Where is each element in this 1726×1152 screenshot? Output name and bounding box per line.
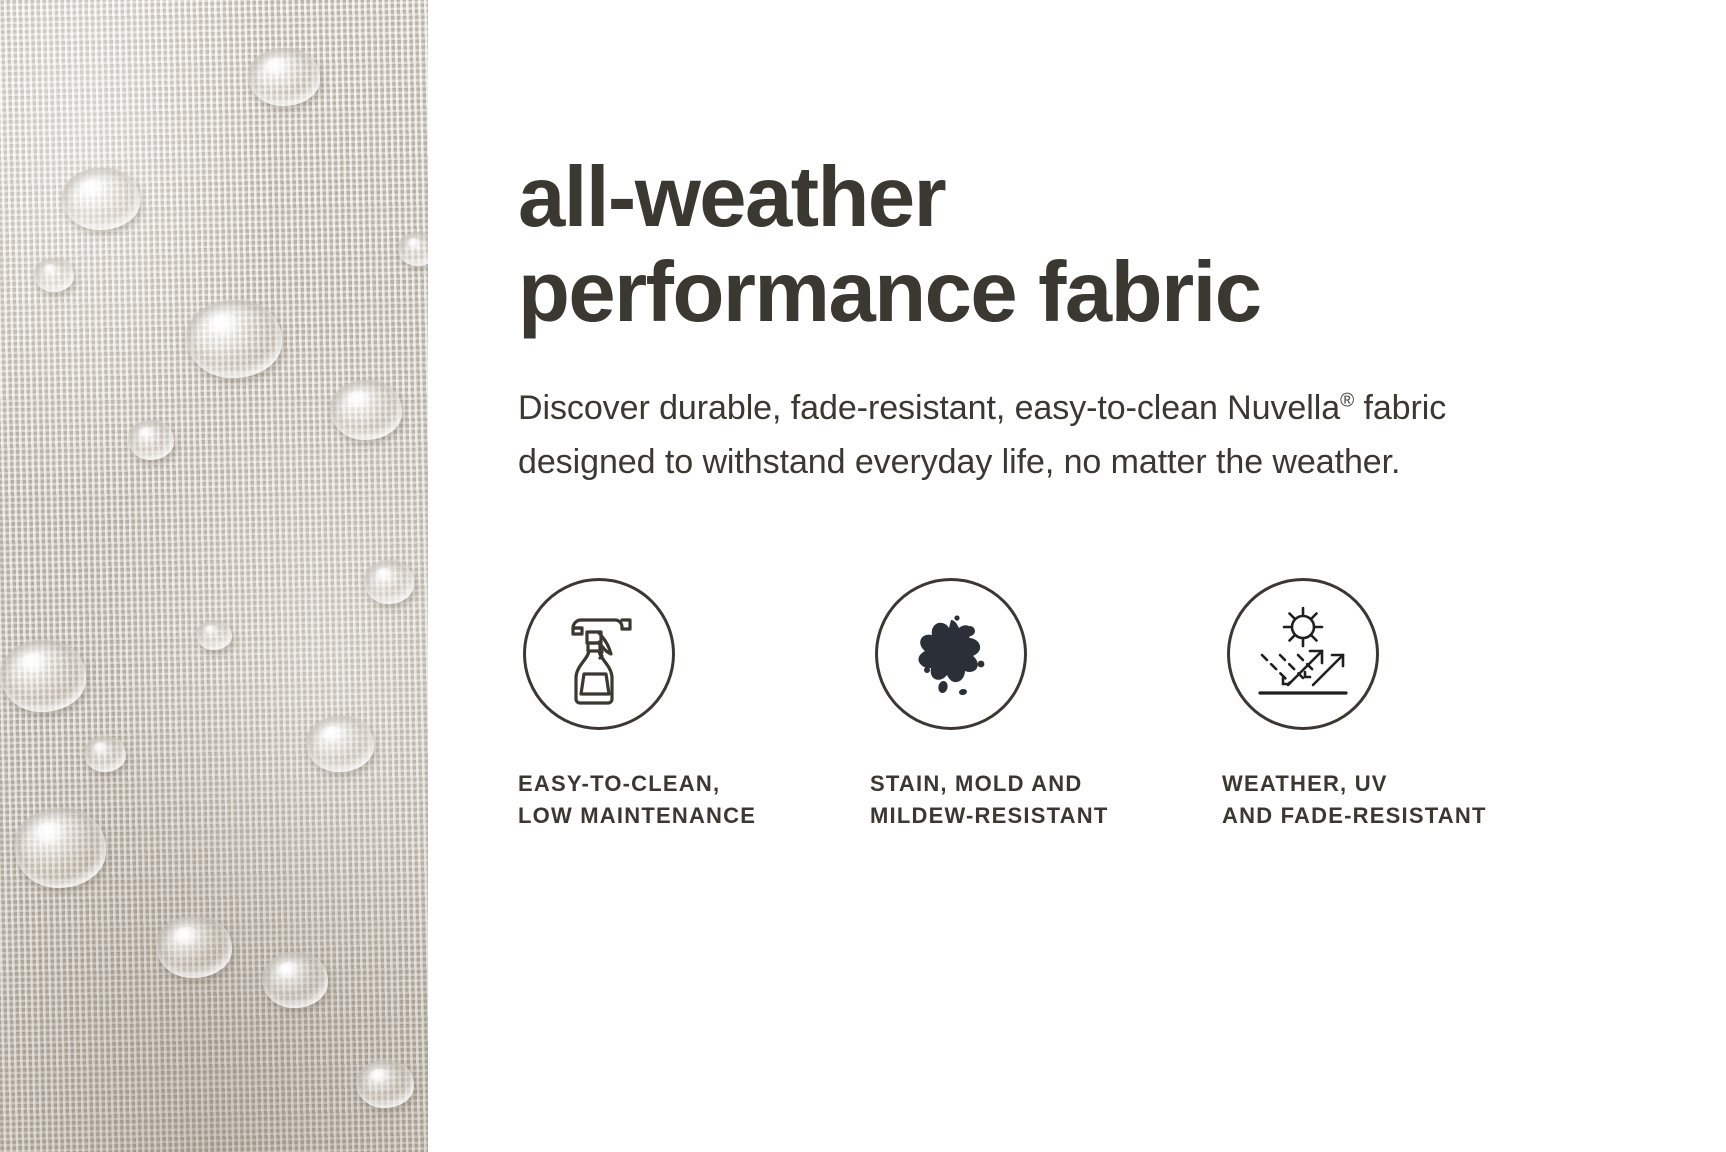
water-droplet <box>262 952 328 1008</box>
page-description: Discover durable, fade-resistant, easy-t… <box>518 382 1478 489</box>
water-droplet <box>196 620 232 650</box>
headline-line-2: performance fabric <box>518 245 1260 340</box>
feature-weather-uv-fade: WEATHER, UV AND FADE-RESISTANT <box>1222 578 1574 832</box>
page-title: all-weatherperformance fabric <box>518 150 1528 340</box>
description-part-1: Discover durable, fade-resistant, easy-t… <box>518 389 1340 427</box>
water-droplets-group <box>0 0 428 1152</box>
feature-list: EASY-TO-CLEAN, LOW MAINTENANCE <box>518 578 1726 832</box>
feature-easy-to-clean: EASY-TO-CLEAN, LOW MAINTENANCE <box>518 578 870 832</box>
feature-label: STAIN, MOLD AND MILDEW-RESISTANT <box>870 768 1222 832</box>
fabric-photo-panel <box>0 0 428 1152</box>
water-droplet <box>186 300 282 378</box>
water-droplet <box>14 808 106 888</box>
water-droplet <box>128 420 174 460</box>
water-droplet <box>356 1060 414 1108</box>
water-droplet <box>306 716 374 772</box>
stain-splat-icon <box>875 578 1027 730</box>
content-panel: all-weatherperformance fabric Discover d… <box>428 0 1726 1152</box>
water-droplet <box>364 560 414 604</box>
all-weather-fabric-banner: all-weatherperformance fabric Discover d… <box>0 0 1726 1152</box>
water-droplet <box>0 640 86 712</box>
water-droplet <box>398 232 428 266</box>
sun-uv-reflect-icon <box>1227 578 1379 730</box>
spray-bottle-icon <box>523 578 675 730</box>
water-droplet <box>156 916 232 978</box>
registered-trademark-mark: ® <box>1340 391 1354 412</box>
headline-line-1: all-weather <box>518 150 945 245</box>
feature-label: WEATHER, UV AND FADE-RESISTANT <box>1222 768 1574 832</box>
water-droplet <box>330 380 402 440</box>
water-droplet <box>62 168 140 230</box>
feature-label: EASY-TO-CLEAN, LOW MAINTENANCE <box>518 768 870 832</box>
water-droplet <box>34 258 74 292</box>
feature-stain-mold-mildew: STAIN, MOLD AND MILDEW-RESISTANT <box>870 578 1222 832</box>
water-droplet <box>84 736 126 772</box>
water-droplet <box>248 48 320 106</box>
